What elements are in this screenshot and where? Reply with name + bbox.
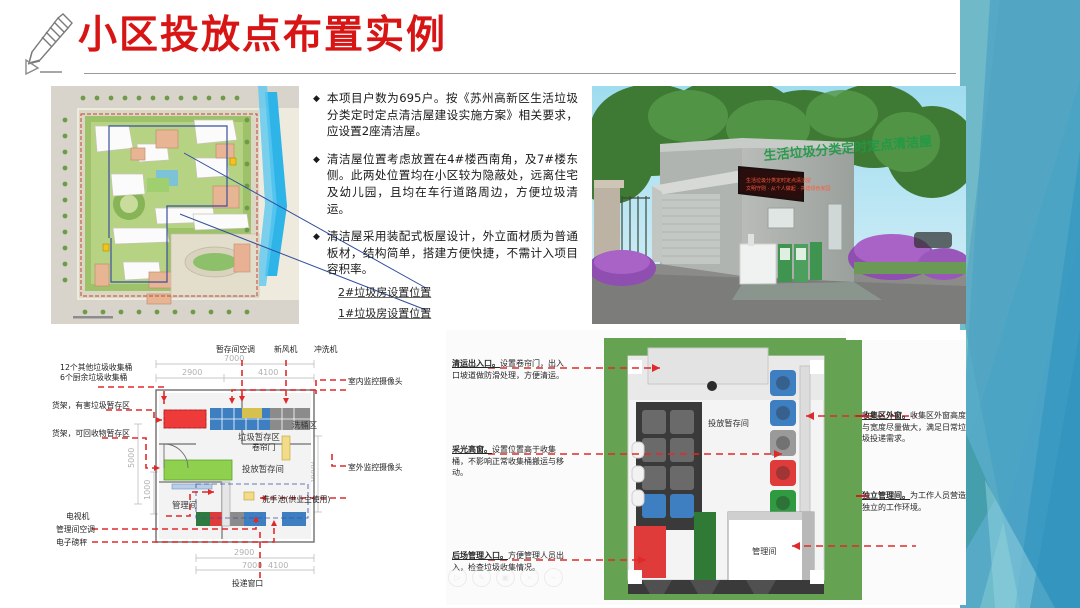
svg-text:4100: 4100 <box>258 368 278 377</box>
svg-text:生活垃圾分类定时定点清洁屋: 生活垃圾分类定时定点清洁屋 <box>746 177 811 184</box>
play-icon[interactable]: ▷ <box>448 568 467 587</box>
axon-note-entrance: 清运出入口。设置卷帘门，出入口坡道做防滑处理，方便清运。 <box>452 358 564 381</box>
ann-indoor-cam: 室内监控摄像头 <box>348 376 403 386</box>
map-callout-label-2: 2#垃圾房设置位置 <box>338 284 431 300</box>
bullet-text: 清洁屋采用装配式板屋设计，外立面材质为普通板材，结构简单，搭建方便快捷，不需计入… <box>327 228 578 278</box>
list-item: ◆ 清洁屋采用装配式板屋设计，外立面材质为普通板材，结构简单，搭建方便快捷，不需… <box>313 228 578 278</box>
axon-note-outerwindow: 收集区外窗。收集区外窗高度与宽度尽量做大，满足日常垃圾投递需求。 <box>862 410 966 445</box>
pencil-icon[interactable]: ✎ <box>472 568 491 587</box>
list-item: ◆ 清洁屋位置考虑放置在4#楼西南角，及7#楼东侧。此两处位置均在小区较为隐蔽处… <box>313 151 578 217</box>
bullet-list: ◆ 本项目户数为695户。按《苏州高新区生活垃圾分类定时定点清洁屋建设实施方案》… <box>313 90 578 289</box>
svg-text:2900: 2900 <box>234 548 254 557</box>
svg-text:1000: 1000 <box>143 480 152 500</box>
recyclable-rack <box>164 460 232 480</box>
map-marker-2 <box>230 158 236 165</box>
map-marker-1 <box>103 244 109 251</box>
ann-tv: 电视机 <box>66 511 90 521</box>
svg-text:5000: 5000 <box>127 448 136 468</box>
search-icon[interactable]: ⌕ <box>520 568 539 587</box>
svg-text:4100: 4100 <box>268 561 288 570</box>
page-title: 小区投放点布置实例 <box>78 14 447 59</box>
ann-washer: 冲洗机 <box>314 344 338 354</box>
axon-room-label-office: 管理间 <box>752 546 777 556</box>
dash-marker <box>856 415 868 417</box>
ann-bins-6: 6个厨余垃圾收集桶 <box>60 372 128 382</box>
ann-fan: 新风机 <box>274 344 298 354</box>
hazardous-waste-rack <box>164 410 206 428</box>
bin-row-bottom <box>196 512 306 526</box>
waste-station-photo: 生活垃圾分类定时定点清洁屋 生活垃圾分类定时定点清洁屋 文明守则 · 从个人做起… <box>592 86 966 324</box>
ann-bins-12: 12个其他垃圾收集桶 <box>60 362 132 372</box>
axon-note-office-title: 独立管理间。 <box>862 491 910 500</box>
axon-note-window: 采光高窗。设置位置高于收集桶，不影响正常收集桶搬运与移动。 <box>452 444 564 479</box>
site-plan-image <box>51 86 299 324</box>
ann-recycle-rack: 货架，可回收物暂存区 <box>52 428 130 438</box>
svg-text:2900: 2900 <box>182 368 202 377</box>
axon-note-window-title: 采光高窗。 <box>452 445 492 454</box>
dash-marker <box>856 495 868 497</box>
title-divider <box>84 73 956 74</box>
ann-scale: 电子磅秤 <box>56 537 87 547</box>
list-item: ◆ 本项目户数为695户。按《苏州高新区生活垃圾分类定时定点清洁屋建设实施方案》… <box>313 90 578 140</box>
room-label-storage: 垃圾暂存区 <box>238 432 280 442</box>
bullet-marker: ◆ <box>313 151 320 217</box>
axon-left-annotations: 清运出入口。设置卷帘门，出入口坡道做防滑处理，方便清运。 采光高窗。设置位置高于… <box>452 336 602 606</box>
room-label-office: 管理间 <box>172 500 197 510</box>
axon-room-label-drop: 投放暂存间 <box>708 418 749 428</box>
slide-canvas: 小区投放点布置实例 <box>0 0 1080 608</box>
axon-note-office: 独立管理间。为工作人员营造独立的工作环境。 <box>862 490 966 513</box>
room-label-drop: 投放暂存间 <box>242 464 284 474</box>
axon-note-entrance-title: 清运出入口。 <box>452 359 500 368</box>
room-label-wash: 洗桶区 <box>292 420 317 430</box>
floor-plan-drawing: 7000 2900 4100 5000 1000 4000 6000 2900 … <box>46 332 446 602</box>
ann-office-ac: 管理间空调 <box>56 524 95 534</box>
svg-text:文明守则 · 从个人做起 · 共建绿色家园: 文明守则 · 从个人做起 · 共建绿色家园 <box>746 185 831 192</box>
ann-shutter: 卷帘门 <box>252 442 276 452</box>
ann-sink: 洗手池(供业主使用) <box>262 494 330 504</box>
bullet-text: 清洁屋位置考虑放置在4#楼西南角，及7#楼东侧。此两处位置均在小区较为隐蔽处，远… <box>327 151 578 217</box>
ann-window: 投递窗口 <box>232 578 263 588</box>
decorative-geometric-band <box>960 0 1080 608</box>
axon-right-annotations: 收集区外窗。收集区外窗高度与宽度尽量做大，满足日常垃圾投递需求。 独立管理间。为… <box>858 330 968 605</box>
bullet-text: 本项目户数为695户。按《苏州高新区生活垃圾分类定时定点清洁屋建设实施方案》相关… <box>327 90 578 140</box>
axon-note-outerwindow-title: 收集区外窗。 <box>862 411 910 420</box>
bullet-marker: ◆ <box>313 90 320 140</box>
image-viewer-toolbar[interactable]: ▷ ✎ ▣ ⌕ – <box>448 568 563 587</box>
map-callout-label-1: 1#垃圾房设置位置 <box>338 305 431 321</box>
axon-note-backentry-title: 后场管理入口。 <box>452 551 508 560</box>
camera-icon[interactable]: ▣ <box>496 568 515 587</box>
minus-icon[interactable]: – <box>544 568 563 587</box>
bullet-marker: ◆ <box>313 228 320 278</box>
ann-hazard-rack: 货架，有害垃圾暂存区 <box>52 400 130 410</box>
pencil-icon <box>18 12 76 78</box>
ann-outdoor-cam: 室外监控摄像头 <box>348 462 403 472</box>
ann-ac: 暂存间空调 <box>216 344 255 354</box>
